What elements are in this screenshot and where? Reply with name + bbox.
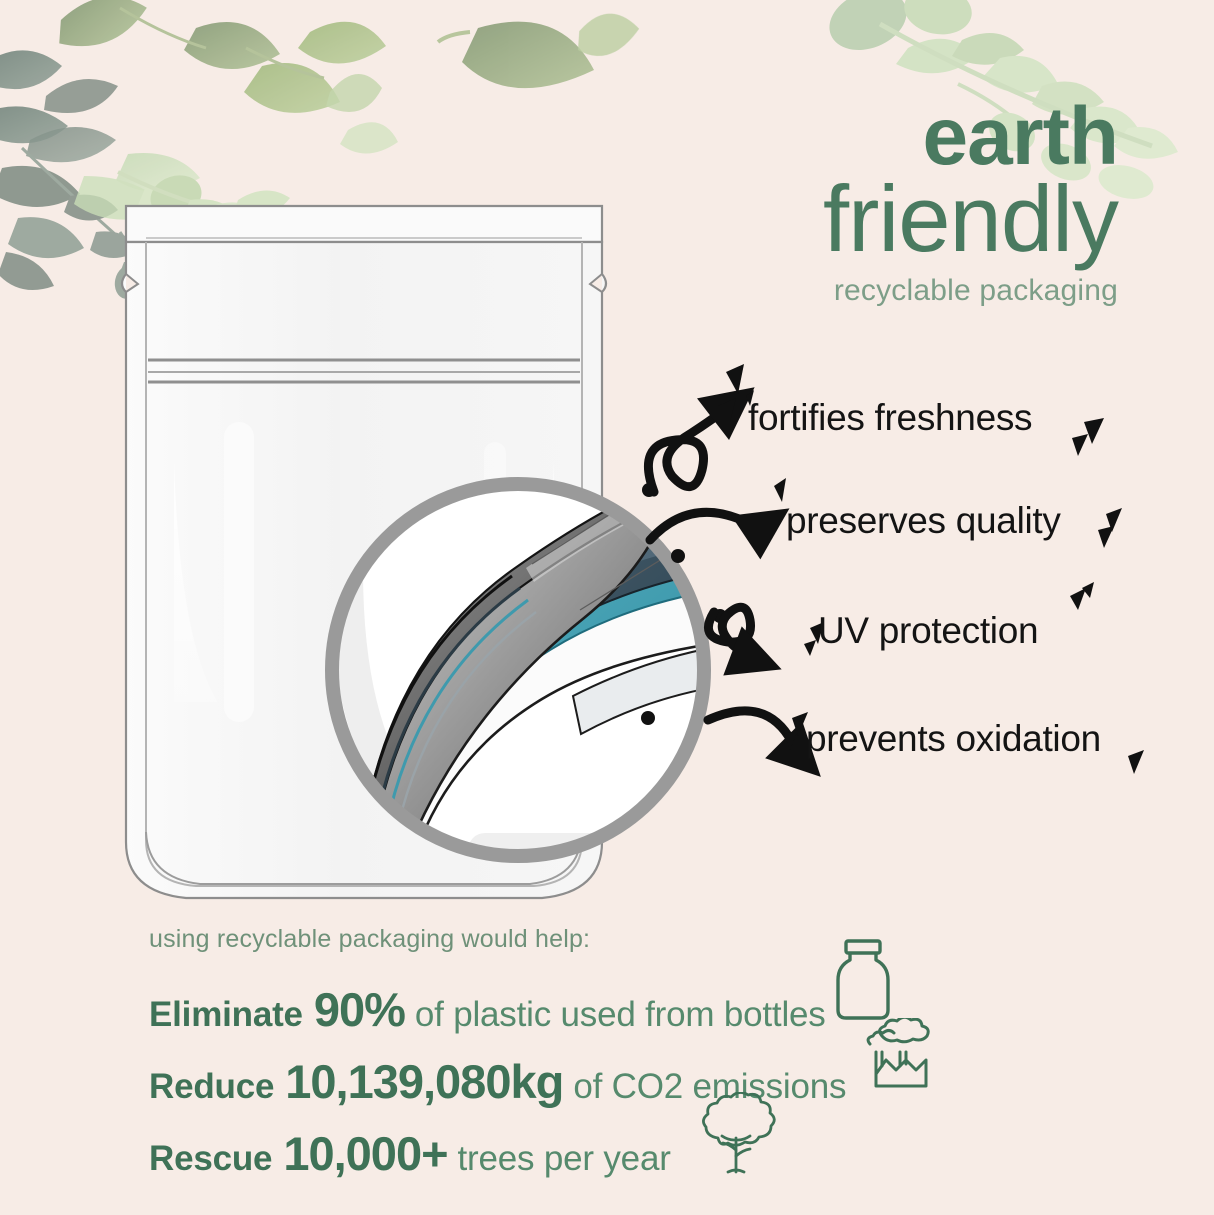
leaf-cluster-olive	[50, 0, 594, 113]
stat-verb: Reduce	[149, 1067, 274, 1107]
factory-icon	[860, 1018, 932, 1090]
callout-label-preserves-quality: preserves quality	[786, 500, 1061, 542]
headline-subtitle: recyclable packaging	[823, 276, 1118, 306]
magnifier-cross-section	[318, 438, 738, 910]
stat-tail: trees per year	[458, 1139, 671, 1179]
anchor-dot-inner	[641, 711, 655, 725]
callout-label-fortifies-freshness: fortifies freshness	[748, 397, 1032, 439]
stat-tail: of plastic used from bottles	[415, 995, 826, 1035]
anchor-dot-teal	[713, 609, 727, 623]
headline-block: earth friendly recyclable packaging	[823, 96, 1118, 306]
headline-line-2: friendly	[823, 172, 1118, 266]
anchor-dot-outer	[642, 483, 656, 497]
stat-value: 90%	[314, 982, 405, 1037]
stat-value: 10,139,080kg	[285, 1054, 563, 1109]
tree-icon	[688, 1092, 784, 1176]
stat-verb: Rescue	[149, 1139, 272, 1179]
anchor-dot-navy	[671, 549, 685, 563]
callout-label-prevents-oxidation: prevents oxidation	[806, 718, 1101, 760]
stats-intro-text: using recyclable packaging would help:	[149, 925, 1049, 954]
bottle-icon	[832, 938, 894, 1022]
stat-row-rescue: Rescue 10,000+ trees per year	[149, 1126, 1049, 1198]
stat-verb: Eliminate	[149, 995, 303, 1035]
callout-label-uv-protection: UV protection	[818, 610, 1038, 652]
stat-value: 10,000+	[283, 1126, 447, 1181]
infographic-canvas: earth friendly recyclable packaging fort…	[0, 0, 1214, 1215]
